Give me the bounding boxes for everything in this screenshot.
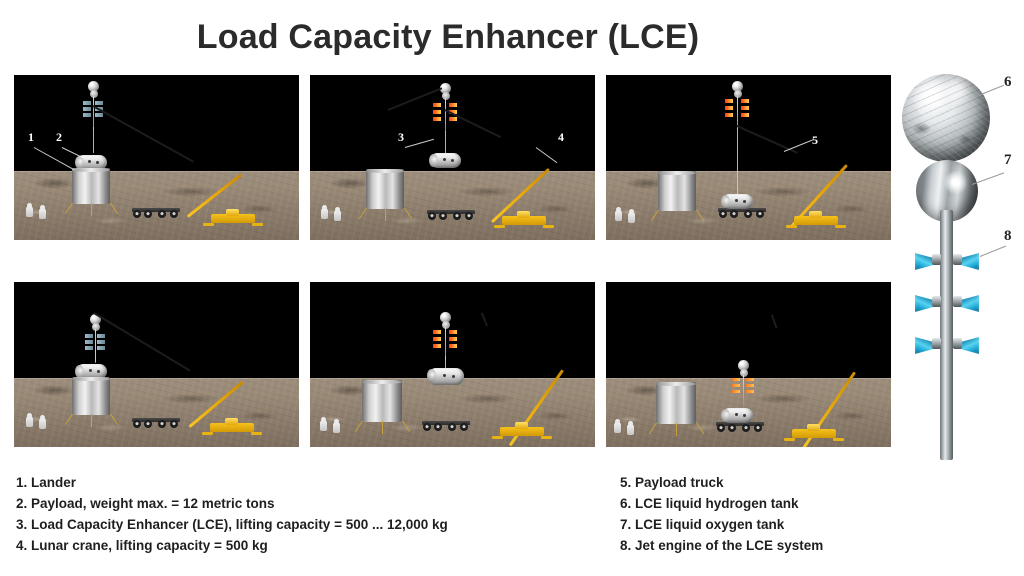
capsule-port bbox=[96, 161, 99, 164]
capsule-port bbox=[743, 414, 746, 417]
lce-cable bbox=[445, 131, 446, 153]
lunar-crane bbox=[792, 412, 836, 438]
lunar-crane bbox=[211, 197, 255, 223]
callout-5: 5 bbox=[812, 133, 818, 148]
truck-wheel bbox=[133, 420, 141, 428]
payload-capsule bbox=[722, 194, 753, 209]
lce-mast bbox=[743, 375, 745, 409]
lander bbox=[72, 377, 110, 415]
capsule-port bbox=[452, 375, 455, 378]
horizon-line bbox=[14, 378, 299, 379]
jet-nozzle-icon bbox=[433, 110, 441, 114]
nozzle-hub bbox=[953, 338, 962, 349]
astronaut bbox=[26, 206, 33, 217]
truck-wheel bbox=[465, 212, 473, 220]
astronaut bbox=[334, 210, 341, 221]
diagram-label-6: 6 bbox=[1004, 74, 1012, 91]
diagram-label-7: 7 bbox=[1004, 152, 1012, 169]
crane-cab bbox=[515, 422, 528, 429]
nozzle-row bbox=[896, 292, 1024, 332]
truck-wheel bbox=[448, 423, 456, 431]
payload-truck bbox=[132, 418, 180, 426]
lce-mast bbox=[445, 98, 447, 132]
crane-cab bbox=[809, 211, 822, 218]
lce-cable bbox=[93, 127, 94, 153]
astronaut bbox=[614, 422, 621, 433]
truck-wheel bbox=[170, 420, 178, 428]
lander-leg bbox=[385, 208, 386, 221]
lander-leg bbox=[382, 421, 383, 434]
capsule-end bbox=[721, 409, 730, 422]
jet-engine-nozzle bbox=[954, 334, 980, 356]
astronaut bbox=[321, 208, 328, 219]
jet-nozzle-icon bbox=[746, 390, 754, 393]
jet-nozzle-icon bbox=[732, 384, 740, 387]
crane-cab bbox=[225, 418, 238, 425]
lander bbox=[656, 382, 696, 424]
nozzle-hub bbox=[932, 338, 941, 349]
panel-5[interactable] bbox=[310, 282, 595, 447]
legend-item-7: 7. LCE liquid oxygen tank bbox=[620, 514, 1020, 535]
nozzle-hub bbox=[953, 296, 962, 307]
truck-wheel bbox=[756, 210, 764, 218]
callout-1: 1 bbox=[28, 130, 34, 145]
jet-nozzle-icon bbox=[85, 340, 93, 344]
lce-detail-diagram: 6 7 8 bbox=[896, 60, 1024, 460]
lunar-crane bbox=[794, 199, 838, 225]
legend-item-4: 4. Lunar crane, lifting capacity = 500 k… bbox=[16, 535, 596, 556]
truck-wheel bbox=[453, 212, 461, 220]
jet-nozzle-icon bbox=[449, 337, 457, 341]
horizon-line bbox=[310, 171, 595, 172]
capsule-port bbox=[451, 159, 454, 162]
crane-outrigger bbox=[494, 225, 505, 228]
crane-outrigger bbox=[835, 225, 846, 228]
horizon-line bbox=[14, 171, 299, 172]
nozzle-hub bbox=[953, 254, 962, 265]
jet-nozzle-icon bbox=[449, 344, 457, 348]
truck-wheel bbox=[439, 212, 447, 220]
crane-cab bbox=[226, 209, 239, 216]
crane-cab bbox=[807, 424, 820, 431]
crane-outrigger bbox=[543, 225, 554, 228]
capsule-port bbox=[97, 370, 100, 373]
jet-nozzle-icon bbox=[97, 340, 105, 344]
truck-wheel bbox=[434, 423, 442, 431]
horizon-line bbox=[606, 171, 891, 172]
jet-engine-nozzle bbox=[954, 250, 980, 272]
lander bbox=[366, 169, 404, 209]
legend-column-left: 1. Lander 2. Payload, weight max. = 12 m… bbox=[16, 472, 596, 556]
truck-wheel bbox=[158, 210, 166, 218]
sky bbox=[14, 75, 299, 171]
lunar-ground bbox=[14, 171, 299, 240]
jet-nozzle-icon bbox=[741, 106, 749, 110]
lunar-crane bbox=[500, 410, 544, 436]
truck-wheel bbox=[144, 210, 152, 218]
lander-leg bbox=[676, 423, 677, 436]
diagram-label-8: 8 bbox=[1004, 228, 1012, 245]
legend-item-3: 3. Load Capacity Enhancer (LCE), lifting… bbox=[16, 514, 596, 535]
jet-nozzle-icon bbox=[746, 378, 754, 381]
jet-nozzle-icon bbox=[95, 113, 103, 117]
truck-wheel bbox=[754, 424, 762, 432]
astronaut bbox=[39, 208, 46, 219]
capsule-port bbox=[89, 369, 92, 372]
capsule-port bbox=[743, 200, 746, 203]
lunar-crane bbox=[502, 199, 546, 225]
lce-unit bbox=[730, 360, 756, 410]
nozzle-row bbox=[896, 250, 1024, 290]
capsule-port bbox=[443, 158, 446, 161]
payload-truck bbox=[716, 422, 764, 430]
crane-outrigger bbox=[252, 223, 263, 226]
jet-nozzle-icon bbox=[449, 330, 457, 334]
jet-nozzle-icon bbox=[449, 117, 457, 121]
jet-engine-nozzle bbox=[914, 292, 940, 314]
astronaut bbox=[627, 424, 634, 435]
jet-nozzle-icon bbox=[85, 334, 93, 338]
crane-outrigger bbox=[541, 436, 552, 439]
astronaut bbox=[333, 422, 340, 433]
lce-unit bbox=[724, 81, 750, 131]
lander-leg bbox=[91, 414, 92, 427]
callout-2: 2 bbox=[56, 130, 62, 145]
jet-nozzle-icon bbox=[433, 103, 441, 107]
legend-item-2: 2. Payload, weight max. = 12 metric tons bbox=[16, 493, 596, 514]
jet-nozzle-icon bbox=[746, 384, 754, 387]
truck-wheel bbox=[428, 212, 436, 220]
crane-outrigger bbox=[786, 225, 797, 228]
jet-nozzle-icon bbox=[741, 99, 749, 103]
truck-wheel bbox=[133, 210, 141, 218]
lunar-ground bbox=[14, 378, 299, 447]
payload-truck bbox=[132, 208, 180, 216]
legend-item-5: 5. Payload truck bbox=[620, 472, 1020, 493]
lce-unit bbox=[432, 312, 458, 362]
jet-engine-nozzle bbox=[954, 292, 980, 314]
jet-engine-nozzle bbox=[914, 250, 940, 272]
jet-nozzle-icon bbox=[725, 106, 733, 110]
jet-nozzle-icon bbox=[433, 344, 441, 348]
lander bbox=[362, 380, 402, 422]
truck-wheel bbox=[423, 423, 431, 431]
astronaut bbox=[628, 212, 635, 223]
truck-wheel bbox=[728, 424, 736, 432]
lce-mast bbox=[93, 96, 95, 130]
truck-wheel bbox=[170, 210, 178, 218]
panel-3[interactable]: 5 bbox=[606, 75, 891, 240]
truck-wheel bbox=[719, 210, 727, 218]
astronaut bbox=[26, 416, 33, 427]
panel-6[interactable] bbox=[606, 282, 891, 447]
truck-wheel bbox=[717, 424, 725, 432]
nozzle-hub bbox=[932, 296, 941, 307]
crane-outrigger bbox=[203, 223, 214, 226]
callout-4: 4 bbox=[558, 130, 564, 145]
jet-nozzle-icon bbox=[83, 101, 91, 105]
crane-outrigger bbox=[492, 436, 503, 439]
diagram-leader bbox=[972, 172, 1004, 185]
crane-outrigger bbox=[202, 432, 213, 435]
jet-nozzle-icon bbox=[95, 101, 103, 105]
jet-nozzle-icon bbox=[83, 113, 91, 117]
truck-wheel bbox=[730, 210, 738, 218]
panel-grid: 1 2 bbox=[14, 75, 896, 447]
lunar-ground bbox=[310, 171, 595, 240]
lander-leg bbox=[91, 203, 92, 216]
crane-cab bbox=[517, 211, 530, 218]
jet-nozzle-icon bbox=[732, 378, 740, 381]
capsule-port bbox=[735, 199, 738, 202]
nozzle-row bbox=[896, 334, 1024, 374]
lander bbox=[72, 168, 110, 204]
jet-nozzle-icon bbox=[97, 346, 105, 350]
capsule-port bbox=[88, 160, 91, 163]
crane-outrigger bbox=[833, 438, 844, 441]
truck-wheel bbox=[144, 420, 152, 428]
crane-outrigger bbox=[784, 438, 795, 441]
legend-item-6: 6. LCE liquid hydrogen tank bbox=[620, 493, 1020, 514]
panel-4[interactable] bbox=[14, 282, 299, 447]
astronaut bbox=[615, 210, 622, 221]
astronaut bbox=[39, 418, 46, 429]
jet-nozzle-icon bbox=[433, 117, 441, 121]
capsule-end bbox=[721, 195, 730, 208]
panel-2[interactable]: 3 4 bbox=[310, 75, 595, 240]
lce-cable bbox=[95, 340, 96, 362]
capsule-end bbox=[429, 154, 438, 167]
payload-capsule bbox=[430, 153, 461, 168]
truck-wheel bbox=[158, 420, 166, 428]
crane-outrigger bbox=[251, 432, 262, 435]
callout-3: 3 bbox=[398, 130, 404, 145]
legend: 1. Lander 2. Payload, weight max. = 12 m… bbox=[16, 472, 1016, 562]
jet-nozzle-icon bbox=[83, 107, 91, 111]
payload-capsule bbox=[722, 408, 753, 423]
legend-column-right: 5. Payload truck 6. LCE liquid hydrogen … bbox=[620, 472, 1020, 556]
jet-nozzle-icon bbox=[741, 113, 749, 117]
payload-truck bbox=[427, 210, 475, 218]
sky bbox=[14, 282, 299, 378]
lander bbox=[658, 171, 696, 211]
capsule-port bbox=[735, 413, 738, 416]
jet-nozzle-icon bbox=[725, 99, 733, 103]
hydrogen-tank bbox=[902, 74, 990, 162]
payload-truck bbox=[718, 208, 766, 216]
jet-nozzle-icon bbox=[449, 103, 457, 107]
nozzle-hub bbox=[932, 254, 941, 265]
capsule-port bbox=[443, 374, 446, 377]
payload-capsule bbox=[428, 368, 464, 385]
lunar-crane bbox=[210, 406, 254, 432]
legend-item-1: 1. Lander bbox=[16, 472, 596, 493]
panel-1[interactable]: 1 2 bbox=[14, 75, 299, 240]
jet-nozzle-icon bbox=[433, 330, 441, 334]
jet-nozzle-icon bbox=[732, 390, 740, 393]
truck-wheel bbox=[742, 424, 750, 432]
jet-nozzle-icon bbox=[97, 334, 105, 338]
astronaut bbox=[320, 420, 327, 431]
jet-nozzle-icon bbox=[725, 113, 733, 117]
jet-engine-nozzle bbox=[914, 334, 940, 356]
capsule-end bbox=[427, 369, 436, 382]
jet-nozzle-icon bbox=[433, 337, 441, 341]
payload-truck bbox=[422, 421, 470, 429]
legend-item-8: 8. Jet engine of the LCE system bbox=[620, 535, 1020, 556]
lunar-ground bbox=[310, 378, 595, 447]
jet-nozzle-icon bbox=[85, 346, 93, 350]
truck-wheel bbox=[744, 210, 752, 218]
truck-wheel bbox=[460, 423, 468, 431]
page-title: Load Capacity Enhancer (LCE) bbox=[0, 18, 896, 57]
